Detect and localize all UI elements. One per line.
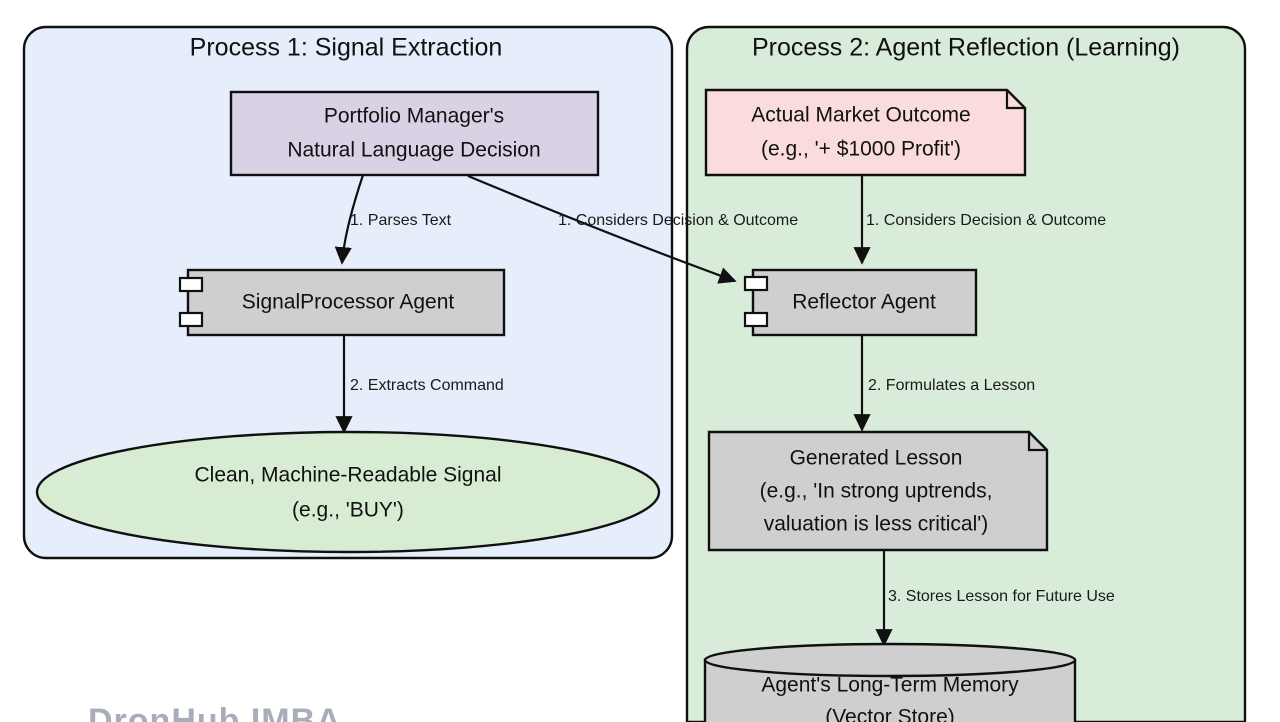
node-portfolio-manager-decision[interactable]: Portfolio Manager's Natural Language Dec…: [231, 92, 598, 175]
node-long-term-memory[interactable]: Agent's Long-Term Memory (Vector Store): [705, 644, 1075, 722]
node-actual-market-outcome[interactable]: Actual Market Outcome (e.g., '+ $1000 Pr…: [706, 90, 1025, 175]
node-reflector-agent-port-bottom-icon: [745, 313, 767, 326]
node-signalprocessor-agent-port-bottom-icon: [180, 313, 202, 326]
node-generated-lesson[interactable]: Generated Lesson (e.g., 'In strong uptre…: [709, 432, 1047, 550]
edge-considers-right-label: 1. Considers Decision & Outcome: [866, 212, 1106, 229]
node-clean-signal-line-1: Clean, Machine-Readable Signal: [194, 464, 501, 487]
node-actual-market-outcome-line-2: (e.g., '+ $1000 Profit'): [761, 138, 961, 161]
node-clean-signal-ellipse[interactable]: [37, 432, 659, 552]
node-portfolio-manager-decision-line-2: Natural Language Decision: [287, 139, 540, 162]
node-reflector-agent[interactable]: Reflector Agent: [745, 270, 976, 335]
panel-process-1-title: Process 1: Signal Extraction: [190, 34, 503, 62]
node-signalprocessor-agent-label: SignalProcessor Agent: [242, 291, 455, 314]
edge-stores-lesson-label: 3. Stores Lesson for Future Use: [888, 588, 1115, 605]
node-long-term-memory-line-1: Agent's Long-Term Memory: [761, 674, 1019, 697]
edge-formulates-lesson-label: 2. Formulates a Lesson: [868, 377, 1035, 394]
node-actual-market-outcome-line-1: Actual Market Outcome: [751, 104, 970, 127]
node-signalprocessor-agent[interactable]: SignalProcessor Agent: [180, 270, 504, 335]
node-long-term-memory-line-2: (Vector Store): [825, 706, 955, 722]
node-reflector-agent-label: Reflector Agent: [792, 291, 936, 314]
edge-considers-left-label: 1. Considers Decision & Outcome: [558, 212, 798, 229]
edge-extracts-command-label: 2. Extracts Command: [350, 377, 504, 394]
panel-process-2-title: Process 2: Agent Reflection (Learning): [752, 34, 1180, 62]
node-reflector-agent-port-top-icon: [745, 277, 767, 290]
node-generated-lesson-line-3: valuation is less critical'): [764, 513, 989, 536]
node-generated-lesson-line-2: (e.g., 'In strong uptrends,: [760, 480, 993, 503]
diagram-canvas: Process 1: Signal Extraction Process 2: …: [0, 0, 1280, 722]
node-long-term-memory-cylinder-top-icon: [705, 644, 1075, 676]
node-generated-lesson-line-1: Generated Lesson: [790, 447, 963, 470]
node-clean-signal[interactable]: Clean, Machine-Readable Signal (e.g., 'B…: [37, 432, 659, 552]
edge-parses-text-label: 1. Parses Text: [350, 212, 452, 229]
node-portfolio-manager-decision-line-1: Portfolio Manager's: [324, 105, 504, 128]
node-signalprocessor-agent-port-top-icon: [180, 278, 202, 291]
flow-diagram: Process 1: Signal Extraction Process 2: …: [0, 0, 1280, 722]
node-clean-signal-line-2: (e.g., 'BUY'): [292, 499, 404, 522]
